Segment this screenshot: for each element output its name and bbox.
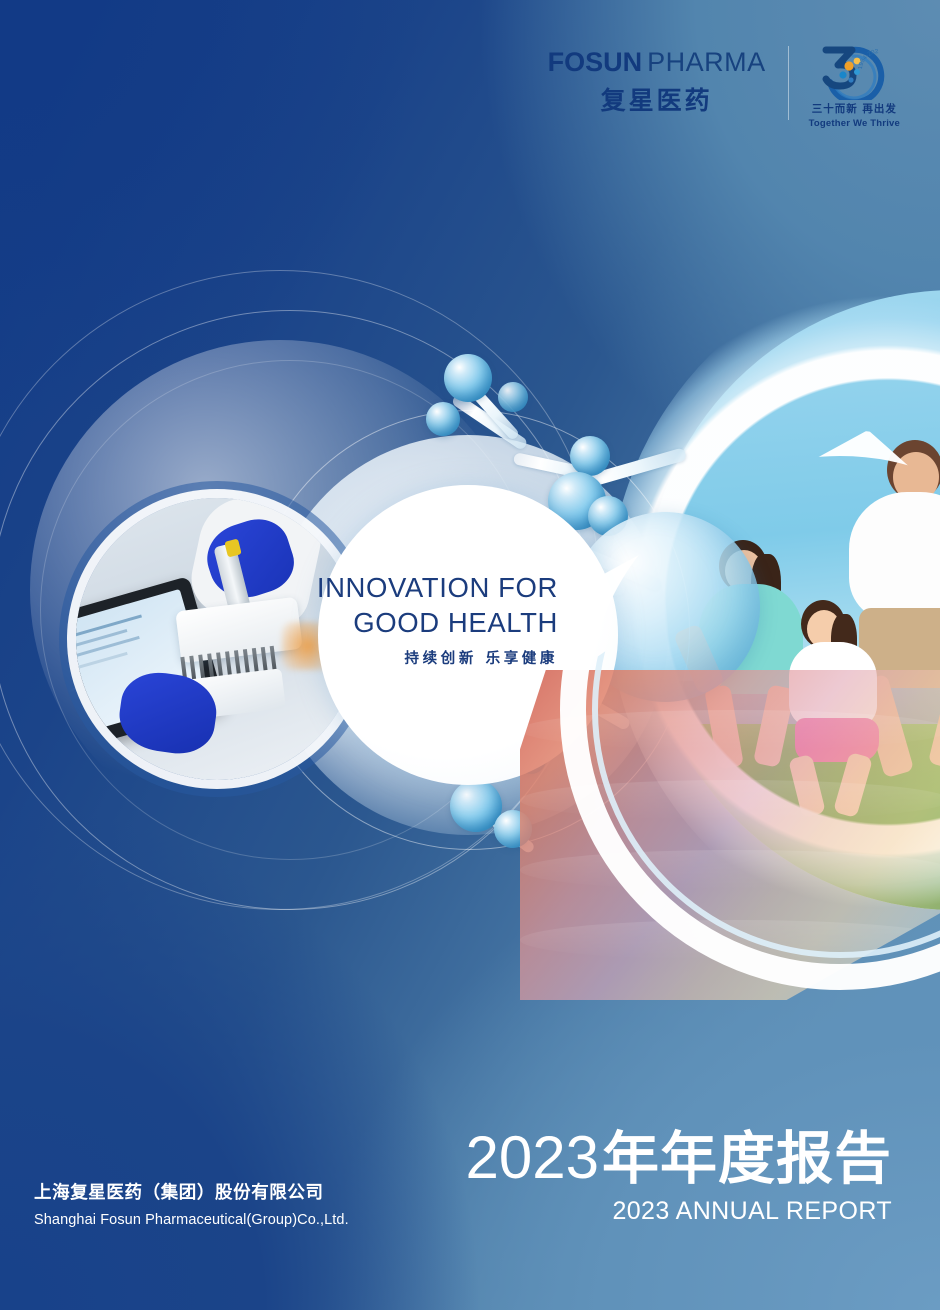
slogan-line-2: GOOD HEALTH	[300, 605, 558, 640]
report-title-cn: 年年度报告	[602, 1131, 892, 1188]
header-logo-block: FOSUN PHARMA 复星医药 1	[548, 36, 900, 129]
brand-english-lockup: FOSUN PHARMA	[548, 49, 766, 76]
company-name-cn: 上海复星医药（集团）股份有限公司	[34, 1179, 349, 1204]
slogan-line-1: INNOVATION FOR	[300, 570, 558, 605]
report-title-en: 2023 ANNUAL REPORT	[466, 1197, 892, 1226]
company-name-block: 上海复星医药（集团）股份有限公司 Shanghai Fosun Pharmace…	[34, 1179, 349, 1228]
anniversary-tagline-cn: 三十而新 再出发	[812, 101, 897, 116]
anniversary-30-logo: 1994-2024 三十而新 再出发 Together We Thrive	[789, 36, 900, 129]
fosun-pharma-logo: FOSUN PHARMA 复星医药	[548, 49, 788, 117]
brand-fosun-text: FOSUN	[548, 49, 643, 76]
report-title-line: 2023 年年度报告	[466, 1128, 892, 1188]
report-cover: FOSUN PHARMA 复星医药 1	[0, 0, 940, 1310]
anniversary-tagline-en: Together We Thrive	[809, 118, 900, 129]
anniversary-mark-icon: 1994-2024	[812, 36, 896, 100]
brand-chinese-text: 复星医药	[601, 81, 713, 117]
brand-pharma-text: PHARMA	[647, 49, 766, 76]
report-title-block: 2023 年年度报告 2023 ANNUAL REPORT	[466, 1128, 892, 1226]
cover-slogan: INNOVATION FOR GOOD HEALTH 持续创新 乐享健康	[300, 570, 558, 668]
report-year: 2023	[466, 1128, 599, 1188]
company-name-en: Shanghai Fosun Pharmaceutical(Group)Co.,…	[34, 1212, 349, 1228]
slogan-chinese: 持续创新 乐享健康	[300, 647, 558, 668]
